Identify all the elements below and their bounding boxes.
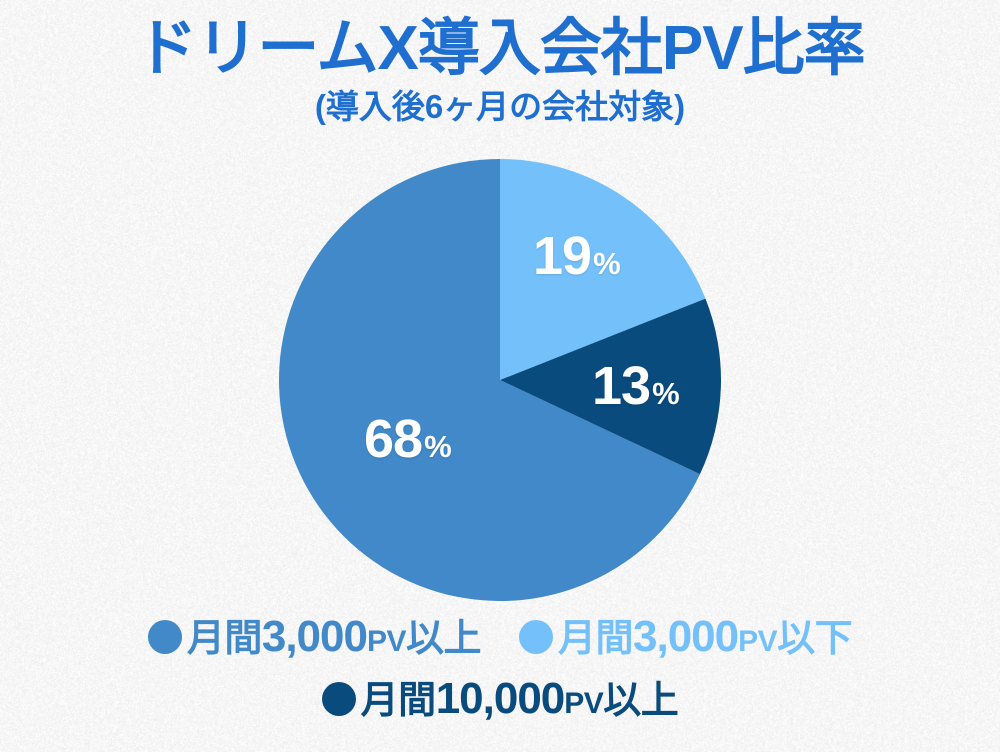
legend-label-suffix: 以下 — [777, 618, 852, 660]
page-title: ドリームX導入会社PV比率 — [0, 0, 1000, 80]
legend-item-3000-or-more[interactable]: 月間3,000PV以上 — [148, 615, 481, 659]
legend-label-unit: PV — [367, 625, 406, 658]
legend-item-3000-or-less[interactable]: 月間3,000PV以下 — [519, 615, 852, 659]
chart-page: ドリームX導入会社PV比率 (導入後6ヶ月の会社対象) 19% 13% 68% — [0, 0, 1000, 752]
legend-row-top: 月間3,000PV以上 月間3,000PV以下 — [0, 606, 1000, 668]
legend-label-prefix: 月間 — [187, 618, 262, 660]
pie-label-light-value: 19 — [533, 226, 591, 286]
legend-label-unit: PV — [738, 625, 777, 658]
legend-label-number: 3,000 — [262, 612, 367, 661]
legend-row-bottom: 月間10,000PV以上 — [0, 668, 1000, 730]
pie-label-light-blue: 19% — [533, 229, 621, 283]
legend-bullet-icon — [519, 620, 553, 654]
pie-label-navy-value: 13 — [592, 356, 650, 416]
legend-item-label: 月間3,000PV以上 — [187, 615, 481, 659]
legend-label-suffix: 以上 — [603, 680, 678, 722]
legend-label-prefix: 月間 — [361, 680, 436, 722]
pie-chart: 19% 13% 68% — [279, 159, 721, 601]
chart-legend: 月間3,000PV以上 月間3,000PV以下 月間10,000PV以上 — [0, 606, 1000, 730]
legend-label-prefix: 月間 — [558, 618, 633, 660]
legend-label-unit: PV — [564, 687, 603, 720]
pie-label-dark-navy: 13% — [592, 359, 680, 413]
pie-label-light-unit: % — [593, 246, 621, 281]
legend-label-number: 10,000 — [436, 674, 565, 723]
chart-header: ドリームX導入会社PV比率 (導入後6ヶ月の会社対象) — [0, 0, 1000, 123]
legend-item-10000-or-more[interactable]: 月間10,000PV以上 — [322, 677, 679, 721]
pie-label-medium-value: 68 — [364, 409, 422, 469]
legend-item-label: 月間3,000PV以下 — [558, 615, 852, 659]
legend-bullet-icon — [148, 620, 182, 654]
pie-label-navy-unit: % — [652, 376, 680, 411]
legend-label-number: 3,000 — [633, 612, 738, 661]
legend-label-suffix: 以上 — [406, 618, 481, 660]
page-subtitle: (導入後6ヶ月の会社対象) — [0, 80, 1000, 123]
legend-item-label: 月間10,000PV以上 — [361, 677, 679, 721]
pie-label-medium-unit: % — [424, 429, 452, 464]
legend-bullet-icon — [322, 682, 356, 716]
pie-label-medium-blue: 68% — [364, 412, 452, 466]
